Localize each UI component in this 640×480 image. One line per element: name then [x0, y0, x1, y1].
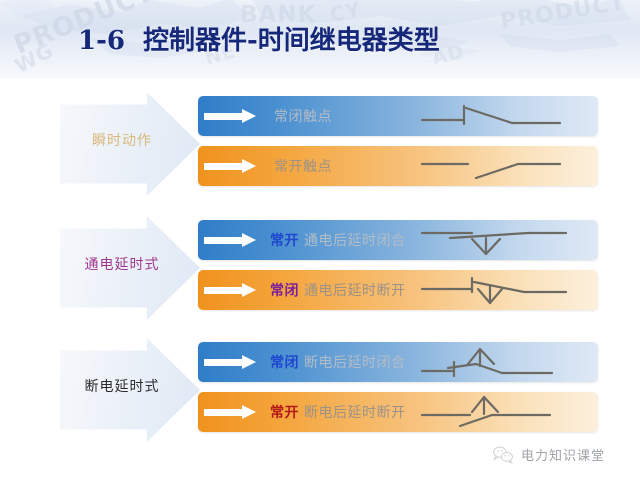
nc-off-delay-close-icon — [420, 342, 570, 382]
no-on-delay-close-icon — [420, 220, 570, 260]
row-description: 断电后延时闭合 — [304, 355, 406, 371]
row-bar-nc-on-delay-open[interactable]: 常闭通电后延时断开 — [198, 270, 598, 310]
no-contact-icon — [420, 146, 570, 186]
group-label: 通电延时式 — [62, 254, 182, 274]
row-description: 常开触点 — [274, 159, 332, 175]
no-off-delay-open-icon — [420, 392, 570, 432]
brand-text: 电力知识课堂 — [521, 445, 605, 464]
row-description: 常闭触点 — [274, 109, 332, 125]
arrow-icon — [204, 159, 262, 173]
arrow-icon — [204, 283, 262, 297]
slide-number: 1-6 — [78, 26, 125, 56]
row-bar-no-on-delay-close[interactable]: 常开通电后延时闭合 — [198, 220, 598, 260]
row-description: 通电后延时闭合 — [304, 233, 406, 249]
group-off-delay: 断电延时式 常闭断电后延时闭合 — [0, 336, 640, 444]
row-text: 常开触点 — [274, 156, 332, 176]
row-bar-nc-off-delay-close[interactable]: 常闭断电后延时闭合 — [198, 342, 598, 382]
group-instantaneous: 瞬时动作 常闭触点 常开触点 — [0, 90, 640, 198]
nc-contact-icon — [420, 96, 570, 136]
row-keyword: 常闭 — [270, 283, 299, 299]
row-text: 常闭断电后延时闭合 — [270, 352, 406, 372]
bottom-spacer — [0, 466, 640, 480]
page-title: 1-6控制器件-时间继电器类型 — [78, 20, 440, 57]
row-keyword: 常开 — [270, 405, 299, 421]
arrow-icon — [204, 233, 262, 247]
group-on-delay: 通电延时式 常开通电后延时闭合 — [0, 214, 640, 322]
nc-on-delay-open-icon — [420, 270, 570, 310]
row-bar-no-off-delay-open[interactable]: 常开断电后延时断开 — [198, 392, 598, 432]
row-text: 常闭通电后延时断开 — [270, 280, 406, 300]
wechat-icon — [492, 445, 514, 464]
row-text: 常开断电后延时断开 — [270, 402, 406, 422]
row-text: 常闭触点 — [274, 106, 332, 126]
row-bar-no-contact[interactable]: 常开触点 — [198, 146, 598, 186]
page-title-text: 控制器件-时间继电器类型 — [143, 26, 440, 56]
row-keyword: 常闭 — [270, 355, 299, 371]
row-bar-nc-contact[interactable]: 常闭触点 — [198, 96, 598, 136]
row-description: 断电后延时断开 — [304, 405, 406, 421]
arrow-icon — [204, 405, 262, 419]
group-label: 瞬时动作 — [62, 130, 182, 150]
slide-header: PRODUCT BANK CY PRODUCT WG NE AD 1-6控制器件… — [0, 0, 640, 78]
row-description: 通电后延时断开 — [304, 283, 406, 299]
arrow-icon — [204, 355, 262, 369]
footer-brand: 电力知识课堂 — [492, 441, 634, 467]
arrow-icon — [204, 109, 262, 123]
slide-canvas: PRODUCT BANK CY PRODUCT WG NE AD 1-6控制器件… — [0, 0, 640, 480]
group-label: 断电延时式 — [62, 376, 182, 396]
row-keyword: 常开 — [270, 233, 299, 249]
row-text: 常开通电后延时闭合 — [270, 230, 406, 250]
